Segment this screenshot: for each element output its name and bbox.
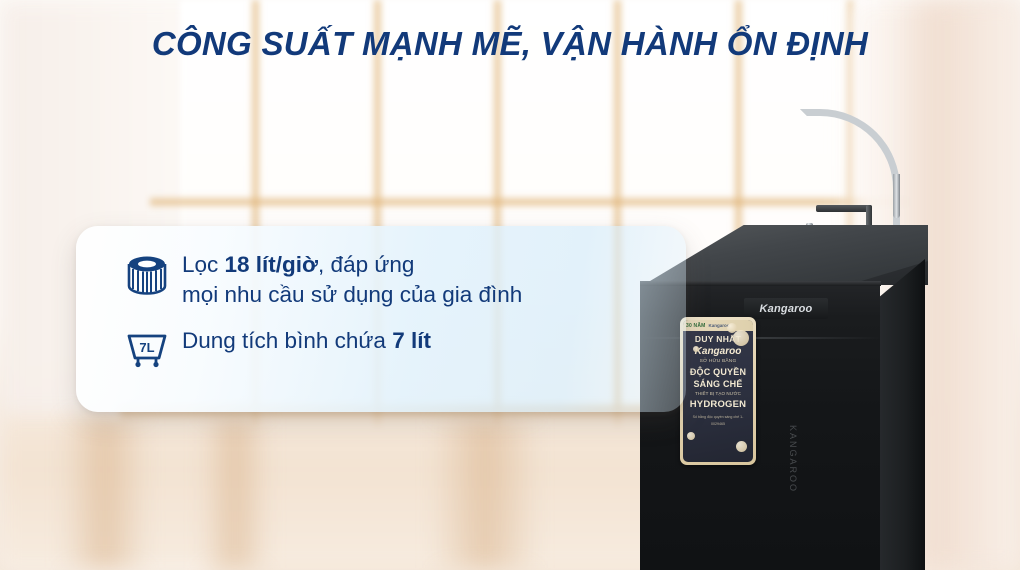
certificate-line-5: SÁNG CHẾ [688,378,748,390]
floor-streak [60,418,150,568]
floor-streak [430,418,540,568]
feature-text-tank-capacity: Dung tích bình chứa 7 lít [174,326,431,356]
decorative-bubble [693,346,699,352]
page-title: CÔNG SUẤT MẠNH MẼ, VẬN HÀNH ỔN ĐỊNH [0,24,1020,64]
certificate-line-3: SỞ HỮU BẰNG [688,358,748,366]
tank-icon-label: 7L [139,340,154,355]
feature-highlight-flow-rate: 18 lít/giờ [225,252,319,277]
cabinet-side-panel [880,259,925,570]
water-purifier-product: Kangaroo KANGAROO 30 NĂM Kangaroo DUY NH… [640,95,1020,570]
feature-card: Lọc 18 lít/giờ, đáp ứng mọi nhu cầu sử d… [76,226,686,412]
feature-list: Lọc 18 lít/giờ, đáp ứng mọi nhu cầu sử d… [120,250,676,368]
banner-stage: CÔNG SUẤT MẠNH MẼ, VẬN HÀNH ỔN ĐỊNH Kang… [0,0,1020,570]
certificate-line-6: THIẾT BỊ TẠO NƯỚC [688,390,748,398]
certificate-label: 30 NĂM Kangaroo DUY NHẤT Kangaroo SỞ HỮU… [680,317,756,465]
faucet-handle-upper [816,205,872,212]
feature-highlight-tank-capacity: 7 lít [392,328,431,353]
feature-text-flow-rate: Lọc 18 lít/giờ, đáp ứng mọi nhu cầu sử d… [174,250,522,310]
water-tank-7l-icon: 7L [120,326,174,368]
feature-item-flow-rate: Lọc 18 lít/giờ, đáp ứng mọi nhu cầu sử d… [120,250,676,310]
brand-logo-text: Kangaroo [760,303,813,315]
feature-text-prefix: Lọc [182,252,225,277]
faucet-gooseneck [800,109,900,243]
certificate-footnote: Số bằng độc quyền sáng chế 1-0029465 [688,414,748,428]
filter-cartridge-icon [120,250,174,298]
feature-text-prefix: Dung tích bình chứa [182,328,392,353]
certificate-inner: 30 NĂM Kangaroo DUY NHẤT Kangaroo SỞ HỮU… [683,320,753,462]
certificate-badge-left: 30 NĂM [686,323,706,329]
decorative-bubble [733,330,749,346]
decorative-bubble [687,432,695,440]
decorative-bubble [727,323,737,333]
certificate-line-7: HYDROGEN [688,398,748,411]
decorative-bubble [736,441,747,452]
brand-logo-plate: Kangaroo [744,298,828,319]
feature-item-tank-capacity: 7L Dung tích bình chứa 7 lít [120,326,676,368]
floor-streak [200,418,270,568]
certificate-line-4: ĐỘC QUYỀN [688,366,748,378]
cabinet-side-text: KANGAROO [788,425,798,493]
